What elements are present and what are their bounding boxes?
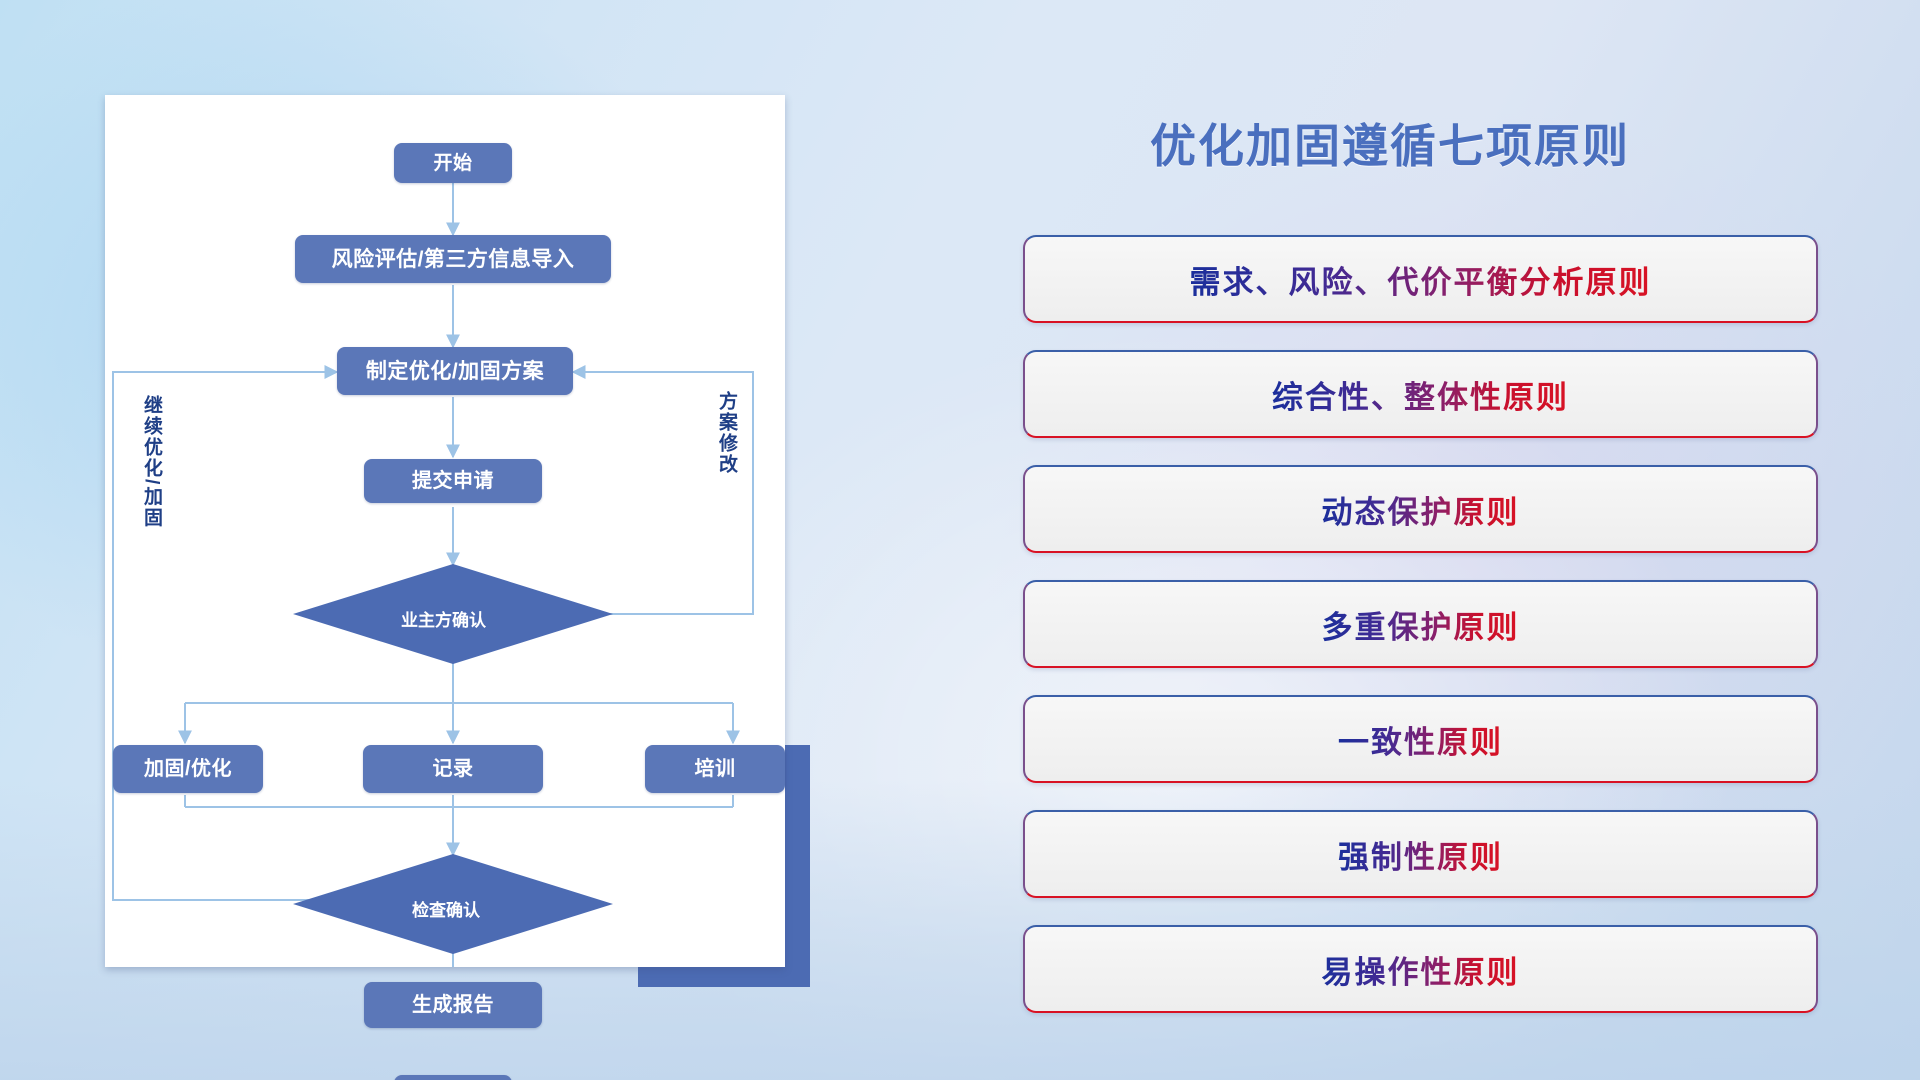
- flow-node-start[interactable]: 开始: [394, 143, 512, 183]
- flow-node-label: 业主方确认: [401, 606, 486, 631]
- flow-node-training[interactable]: 培训: [645, 745, 785, 793]
- principles-title: 优化加固遵循七项原则: [1150, 110, 1630, 176]
- slide-canvas: 开始 风险评估/第三方信息导入 制定优化/加固方案 提交申请 业主方确认 加固/…: [0, 0, 1920, 1080]
- principle-label: 易操作性原则: [1322, 947, 1520, 992]
- flow-node-label: 记录: [433, 759, 474, 779]
- flow-node-end[interactable]: 结束: [394, 1075, 512, 1080]
- flowchart: 开始 风险评估/第三方信息导入 制定优化/加固方案 提交申请 业主方确认 加固/…: [105, 95, 785, 967]
- flowchart-connectors: [105, 95, 785, 967]
- principle-label: 多重保护原则: [1322, 602, 1520, 647]
- principle-label: 强制性原则: [1338, 832, 1503, 877]
- principle-card[interactable]: 需求、风险、代价平衡分析原则: [1023, 235, 1818, 323]
- flow-node-generate-report[interactable]: 生成报告: [364, 982, 542, 1028]
- principle-card[interactable]: 一致性原则: [1023, 695, 1818, 783]
- principle-card[interactable]: 综合性、整体性原则: [1023, 350, 1818, 438]
- principle-card[interactable]: 强制性原则: [1023, 810, 1818, 898]
- flowchart-panel: 开始 风险评估/第三方信息导入 制定优化/加固方案 提交申请 业主方确认 加固/…: [105, 95, 785, 967]
- flow-node-risk-assessment[interactable]: 风险评估/第三方信息导入: [295, 235, 611, 283]
- principle-label: 动态保护原则: [1322, 487, 1520, 532]
- flow-node-label: 培训: [695, 759, 736, 779]
- flow-node-label: 生成报告: [412, 995, 494, 1015]
- flow-node-label: 风险评估/第三方信息导入: [332, 249, 575, 270]
- flow-node-submit-application[interactable]: 提交申请: [364, 459, 542, 503]
- principle-label: 一致性原则: [1338, 717, 1503, 762]
- flow-node-label: 开始: [433, 154, 472, 173]
- edge-label-continue-optimize: 继续优化/加固: [141, 395, 161, 528]
- flow-node-record[interactable]: 记录: [363, 745, 543, 793]
- flow-node-label: 检查确认: [412, 896, 480, 921]
- principle-card[interactable]: 易操作性原则: [1023, 925, 1818, 1013]
- flow-node-reinforce-optimize[interactable]: 加固/优化: [113, 745, 263, 793]
- flow-node-label: 制定优化/加固方案: [366, 361, 544, 382]
- principle-label: 综合性、整体性原则: [1272, 372, 1569, 417]
- flow-node-label: 提交申请: [412, 471, 494, 491]
- principle-label: 需求、风险、代价平衡分析原则: [1190, 257, 1652, 302]
- principle-card[interactable]: 多重保护原则: [1023, 580, 1818, 668]
- flow-node-plan[interactable]: 制定优化/加固方案: [337, 347, 573, 395]
- principle-card[interactable]: 动态保护原则: [1023, 465, 1818, 553]
- flow-node-label: 加固/优化: [144, 759, 232, 779]
- principles-list: 需求、风险、代价平衡分析原则 综合性、整体性原则 动态保护原则 多重保护原则 一…: [1023, 235, 1818, 1040]
- edge-label-plan-revision: 方案修改: [716, 391, 736, 475]
